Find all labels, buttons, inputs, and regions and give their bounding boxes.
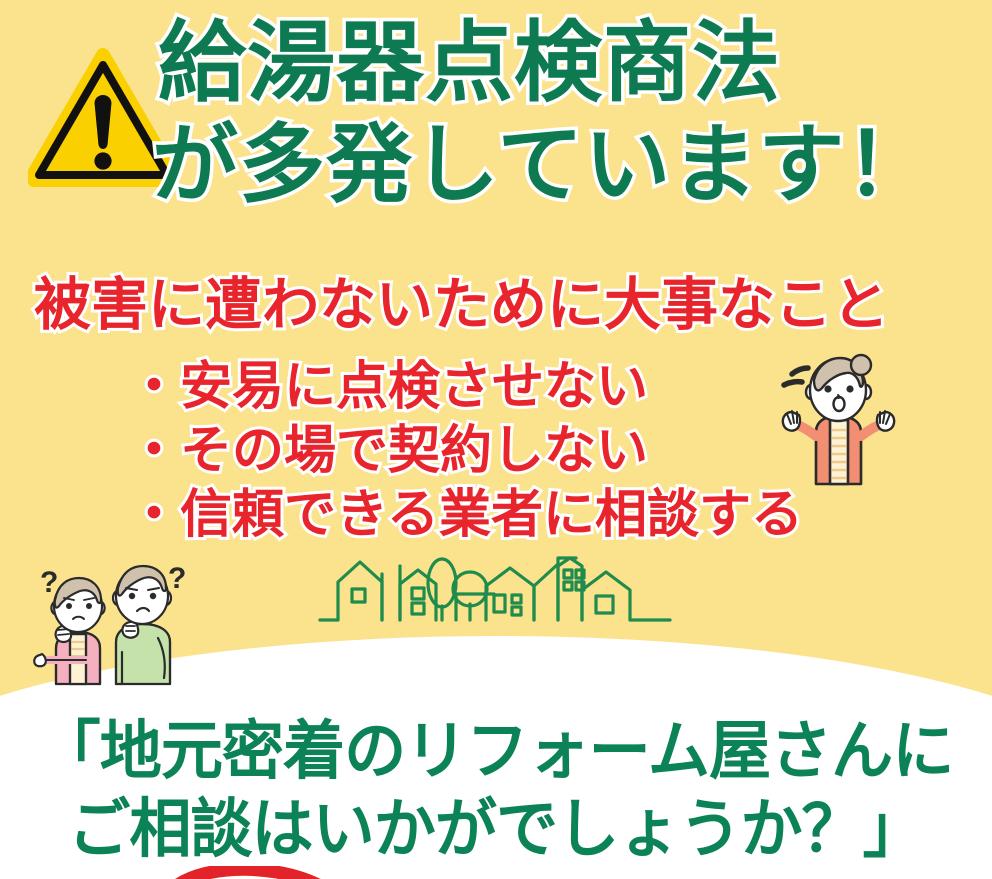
thinking-elderly-couple-illustration: ? ? [18,556,198,686]
red-swoosh-graphic [156,866,346,879]
title-block: 給湯器点検商法 が多発しています！ [152,18,988,209]
list-item: ・その場で契約しない [128,420,803,484]
header-section: 給湯器点検商法 が多発しています！ [0,0,992,262]
town-houses-line-art-icon [318,556,678,636]
alert-bullet-list: ・安易に点検させない ・その場で契約しない ・信頼できる業者に相談する [128,356,803,548]
svg-text:?: ? [168,562,186,595]
title-line-1: 給湯器点検商法 [158,18,988,108]
surprised-elderly-woman-illustration [766,352,912,487]
cta-line-1: 「地元密着のリフォーム屋さんに [15,712,977,790]
alert-heading: 被害に遭わないために大事なこと [34,276,889,336]
cta-line-2: ご相談はいかがでしょうか？」 [15,790,977,868]
list-item: ・信頼できる業者に相談する [128,484,803,548]
title-line-2: が多発しています！ [152,122,988,210]
cta-block: 「地元密着のリフォーム屋さんに ご相談はいかがでしょうか？」 [0,712,992,868]
poster-root: 給湯器点検商法 が多発しています！ 被害に遭わないために大事なこと ・安易に点検… [0,0,992,879]
list-item: ・安易に点検させない [128,356,803,420]
